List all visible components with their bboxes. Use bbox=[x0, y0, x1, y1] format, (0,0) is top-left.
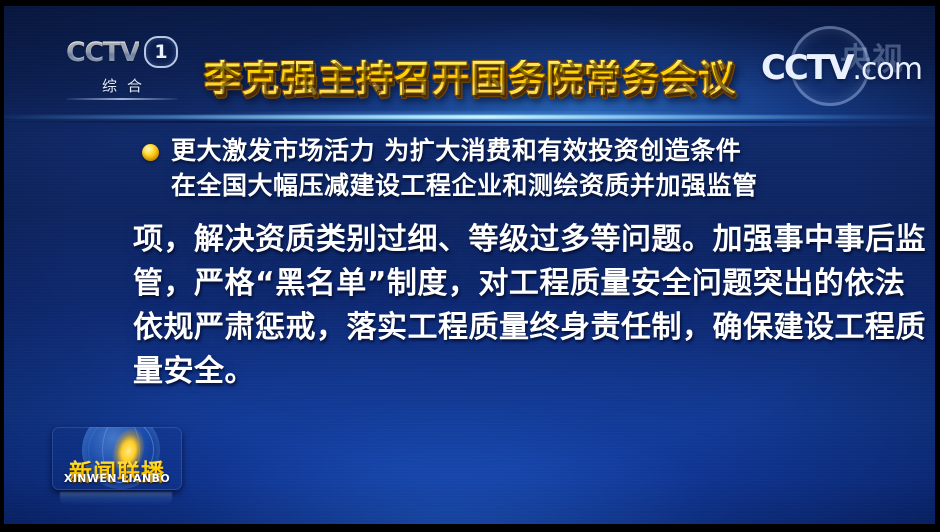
body-line-3: 依规严肃惩戒，落实工程质量终身责任制，确保建设工程质 bbox=[133, 306, 832, 350]
gold-bullet-icon bbox=[142, 144, 159, 161]
body-line-4: 量安全。 bbox=[133, 350, 832, 394]
subtitle-row: 更大激发市场活力 为扩大消费和有效投资创造条件 在全国大幅压减建设工程企业和测绘… bbox=[142, 134, 880, 203]
letterbox-top bbox=[0, 0, 940, 6]
body-paragraph: 项，解决资质类别过细、等级过多等问题。加强事中事后监 管，严格“黑名单”制度，对… bbox=[133, 218, 832, 394]
subtitle-block: 更大激发市场活力 为扩大消费和有效投资创造条件 在全国大幅压减建设工程企业和测绘… bbox=[142, 134, 880, 203]
xinwen-lianbo-logo: 新闻联播 XINWEN LIANBO bbox=[52, 427, 182, 490]
program-name-en: XINWEN LIANBO bbox=[52, 472, 182, 485]
subtitle-lines: 更大激发市场活力 为扩大消费和有效投资创造条件 在全国大幅压减建设工程企业和测绘… bbox=[171, 134, 880, 203]
letterbox-bottom bbox=[0, 524, 940, 532]
header-divider-line bbox=[4, 115, 935, 119]
body-line-2: 管，严格“黑名单”制度，对工程质量安全问题突出的依法 bbox=[133, 262, 832, 306]
broadcast-screen: CCTV 1 综合 央视 CCTV.com 李克强主持召开国务院常务会议 更大激… bbox=[0, 0, 940, 532]
letterbox-left bbox=[0, 0, 4, 532]
subtitle-line-1: 更大激发市场活力 为扩大消费和有效投资创造条件 bbox=[171, 134, 880, 169]
header-divider-shadow bbox=[4, 121, 935, 123]
subtitle-line-2: 在全国大幅压减建设工程企业和测绘资质并加强监管 bbox=[171, 169, 880, 204]
letterbox-right bbox=[935, 0, 940, 532]
headline-title: 李克强主持召开国务院常务会议 bbox=[0, 60, 940, 99]
body-line-1: 项，解决资质类别过细、等级过多等问题。加强事中事后监 bbox=[133, 218, 832, 262]
logo-reflection bbox=[60, 492, 172, 505]
